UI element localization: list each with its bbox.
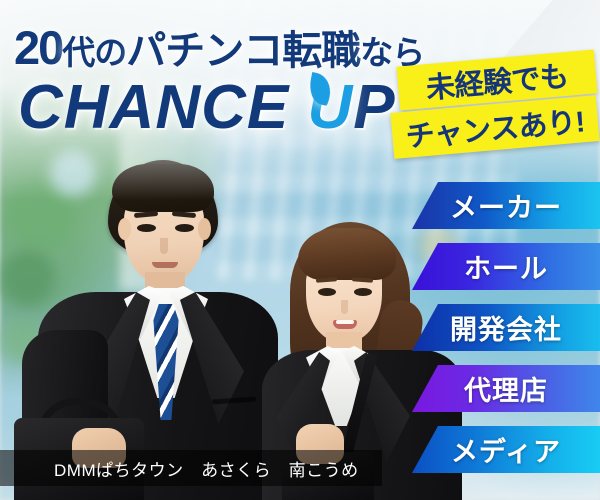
headline: 20代のパチンコ転職なら	[14, 18, 424, 76]
menu-item-developer-label: 開発会社	[450, 308, 562, 347]
headline-number: 20	[14, 21, 62, 74]
female-eye-right	[354, 288, 372, 296]
male-ear-left	[118, 218, 131, 240]
headline-mid: 代の	[62, 34, 126, 71]
menu-item-maker-label: メーカー	[450, 186, 562, 225]
category-menu: メーカー ホール 開発会社 代理店 メディア	[412, 182, 600, 487]
headline-main: パチンコ転職	[126, 29, 360, 73]
recruitment-banner[interactable]: 20代のパチンコ転職なら CHANCE UP 未経験でも チャンスあり! メーカ…	[0, 0, 600, 500]
caption-text: DMMぱちタウン あさくら 南こうめ	[54, 456, 359, 481]
chance-up-logo: CHANCE UP	[18, 72, 396, 143]
female-fringe	[298, 228, 396, 280]
male-ear-right	[198, 218, 211, 240]
female-nose	[341, 300, 348, 314]
bokeh-green-2	[0, 250, 56, 306]
male-eye-left	[137, 224, 156, 232]
menu-item-media[interactable]: メディア	[412, 426, 600, 473]
logo-chance-text: CHANCE	[18, 73, 289, 142]
female-eye-left	[318, 288, 336, 296]
caption-bar: DMMぱちタウン あさくら 南こうめ	[0, 450, 382, 486]
male-nose	[160, 238, 168, 254]
menu-item-hall-label: ホール	[464, 247, 548, 286]
female-teeth	[336, 320, 354, 324]
menu-item-media-label: メディア	[451, 430, 561, 469]
menu-item-maker[interactable]: メーカー	[412, 182, 600, 229]
male-mouth	[152, 262, 178, 268]
logo-p-letter: P	[353, 73, 395, 142]
male-eye-right	[175, 224, 194, 232]
menu-item-agency-label: 代理店	[464, 369, 548, 408]
menu-item-agency[interactable]: 代理店	[412, 365, 600, 412]
menu-item-hall[interactable]: ホール	[412, 243, 600, 290]
menu-item-developer[interactable]: 開発会社	[412, 304, 600, 351]
